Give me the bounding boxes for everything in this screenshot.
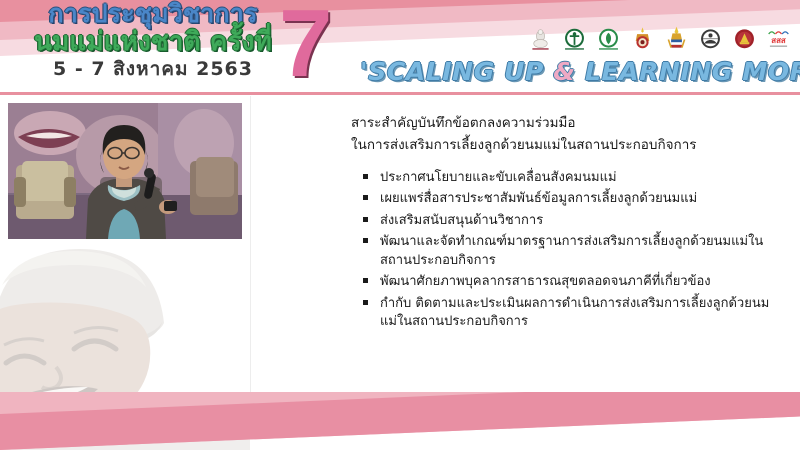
list-item: ส่งเสริมสนับสนุนด้านวิชาการ (363, 212, 783, 231)
column-divider (250, 96, 251, 426)
square-bullet-icon (363, 217, 368, 222)
list-item: เผยแพร่สื่อสารประชาสัมพันธ์ข้อมูลการเลี้… (363, 190, 783, 209)
list-item: พัฒนาศักยภาพบุคลากรสาธารณสุขตลอดจนภาคีที… (363, 273, 783, 292)
list-item-label: พัฒนาศักยภาพบุคลากรสาธารณสุขตลอดจนภาคีที… (380, 274, 711, 289)
thai-pediatric-logo (629, 26, 656, 53)
slogan-part-1: 'SCALING UP (360, 57, 553, 86)
list-item-label: เผยแพร่สื่อสารประชาสัมพันธ์ข้อมูลการเลี้… (380, 191, 697, 206)
square-bullet-icon (363, 300, 368, 305)
header-banner: 7 การประชุมวิชาการ นมแม่แห่งชาติ ครั้งที… (0, 0, 800, 95)
ampersand-glyph: & (553, 57, 575, 86)
conference-title: การประชุมวิชาการ นมแม่แห่งชาติ ครั้งที่ … (18, 1, 288, 79)
square-bullet-icon (363, 174, 368, 179)
royal-emblem-logo (663, 26, 690, 53)
red-circle-emblem-logo (731, 26, 758, 53)
thaihealth-sss-logo: สสส (765, 26, 792, 53)
conference-title-line1: การประชุมวิชาการ (18, 1, 288, 26)
content-lead-text: สาระสำคัญบันทึกข้อตกลงความร่วมมือ ในการส… (351, 112, 781, 157)
list-item: ประกาศนโยบายและขับเคลื่อนสังคมนมแม่ (363, 169, 783, 188)
lead-line-2: ในการส่งเสริมการเลี้ยงลูกด้วยนมแม่ในสถาน… (351, 134, 781, 156)
list-item-label: ประกาศนโยบายและขับเคลื่อนสังคมนมแม่ (380, 170, 617, 185)
square-bullet-icon (363, 238, 368, 243)
presentation-slide: 7 การประชุมวิชาการ นมแม่แห่งชาติ ครั้งที… (0, 0, 800, 450)
slide-content: สาระสำคัญบันทึกข้อตกลงความร่วมมือ ในการส… (255, 95, 800, 405)
square-bullet-icon (363, 195, 368, 200)
list-item: พัฒนาและจัดทำเกณฑ์มาตรฐานการส่งเสริมการเ… (363, 233, 783, 271)
list-item: กำกับ ติดตามและประเมินผลการดำเนินการส่งเ… (363, 295, 783, 333)
conference-slogan: 'SCALING UP & LEARNING MORE' (360, 57, 800, 86)
conference-date: 5 - 7 สิงหาคม 2563 (18, 60, 288, 79)
square-bullet-icon (363, 278, 368, 283)
conference-title-line2: นมแม่แห่งชาติ ครั้งที่ (18, 29, 288, 55)
content-bullet-list: ประกาศนโยบายและขับเคลื่อนสังคมนมแม่ เผยแ… (363, 169, 783, 335)
speaker-presentation-photo (8, 103, 242, 239)
list-item-label: ส่งเสริมสนับสนุนด้านวิชาการ (380, 213, 543, 228)
list-item-label: กำกับ ติดตามและประเมินผลการดำเนินการส่งเ… (380, 296, 769, 330)
unicef-thailand-logo (697, 26, 724, 53)
list-item-label: พัฒนาและจัดทำเกณฑ์มาตรฐานการส่งเสริมการเ… (380, 234, 763, 268)
svg-text:สสส: สสส (771, 36, 786, 45)
ministry-public-health-logo (561, 26, 588, 53)
slogan-part-2: LEARNING MORE' (576, 57, 800, 86)
footer-pink-wedge (0, 392, 800, 450)
royal-seal-logo (527, 26, 554, 53)
partner-logos-row: สสส (527, 26, 792, 53)
health-department-logo (595, 26, 622, 53)
lead-line-1: สาระสำคัญบันทึกข้อตกลงความร่วมมือ (351, 112, 781, 134)
